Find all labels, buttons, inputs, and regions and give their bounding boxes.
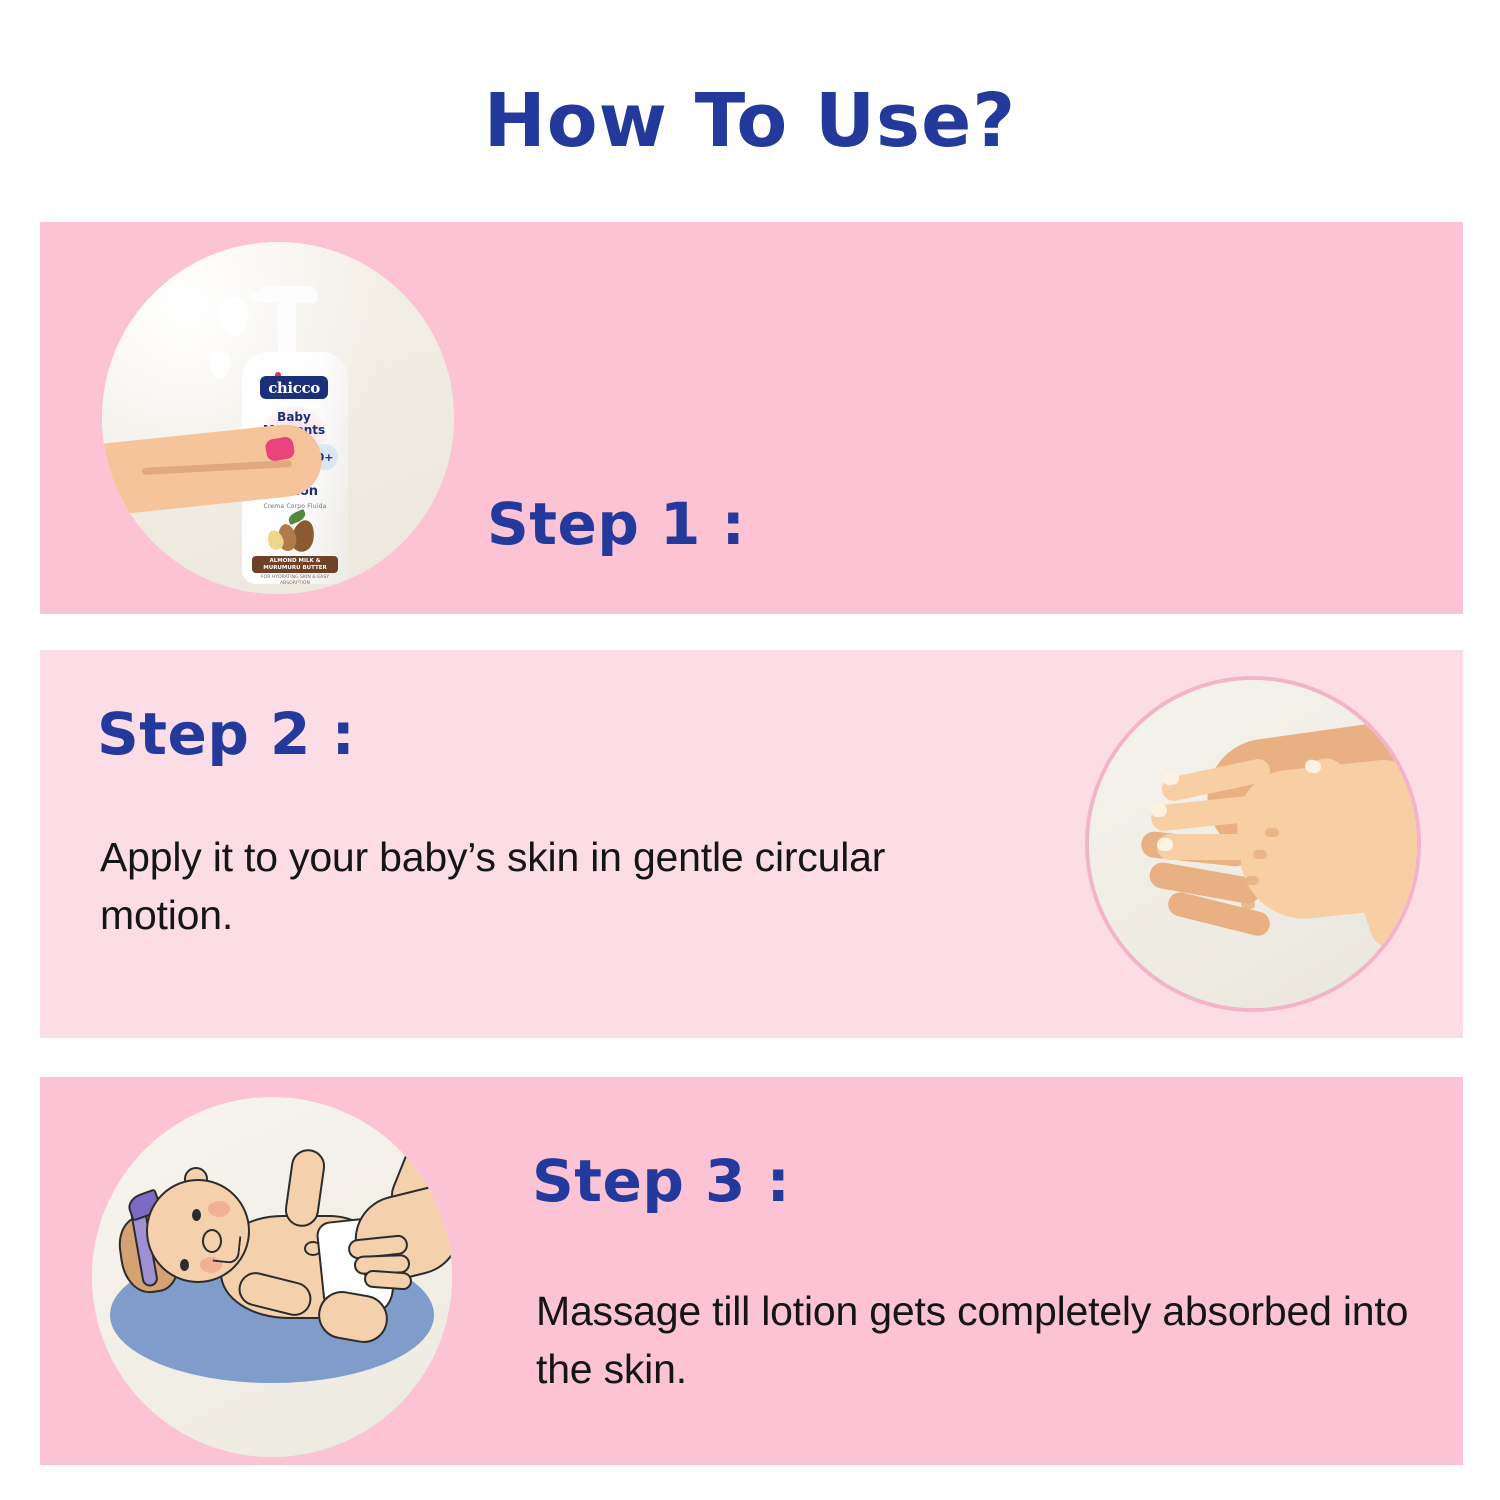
- step-3-panel: Step 3 : Massage till lotion gets comple…: [40, 1077, 1463, 1465]
- step-3-illustration: [92, 1097, 452, 1457]
- step-2-body: Apply it to your baby’s skin in gentle c…: [100, 828, 1000, 944]
- chicco-brand-text: chicco: [268, 379, 320, 397]
- how-to-use-infographic: How To Use? chicco Baby Moments: [0, 0, 1500, 1500]
- variant-claim: FOR HYDRATING SKIN & EASY ABSORPTION: [252, 575, 338, 586]
- step-1-panel: chicco Baby Moments 0+ Body Lotion Crema…: [40, 222, 1463, 614]
- step-2-heading: Step 2 :: [97, 700, 355, 768]
- pump-spout: [250, 292, 272, 301]
- product-subtitle: Crema Corpo Fluida: [246, 503, 344, 510]
- baby-eye-2: [180, 1259, 189, 1271]
- baby-eye-1: [192, 1209, 201, 1221]
- almond-illustration: [266, 514, 326, 556]
- knuckle-1: [1265, 828, 1279, 837]
- baby-moments-line1: Baby: [252, 411, 336, 424]
- step-1-heading: Step 1 :: [487, 490, 745, 558]
- step-3-heading: Step 3 :: [532, 1147, 790, 1215]
- variant-banner: ALMOND MILK & MURUMURU BUTTER: [252, 556, 338, 573]
- adult-finger-3: [363, 1269, 412, 1290]
- step-2-illustration: [1085, 676, 1421, 1012]
- baby-head: [146, 1179, 250, 1283]
- knuckle-2: [1253, 850, 1267, 859]
- page-title: How To Use?: [0, 78, 1500, 164]
- knuckle-3: [1245, 876, 1259, 885]
- baby-cheek-1: [208, 1201, 230, 1217]
- step-1-illustration: chicco Baby Moments 0+ Body Lotion Crema…: [102, 242, 454, 594]
- knuckle-4: [1241, 900, 1255, 909]
- step-3-body: Massage till lotion gets completely abso…: [536, 1282, 1416, 1398]
- step-2-panel: Step 2 : Apply it to your baby’s skin in…: [40, 650, 1463, 1038]
- chicco-logo-badge: chicco: [260, 376, 328, 399]
- fingernail-3: [1157, 838, 1173, 851]
